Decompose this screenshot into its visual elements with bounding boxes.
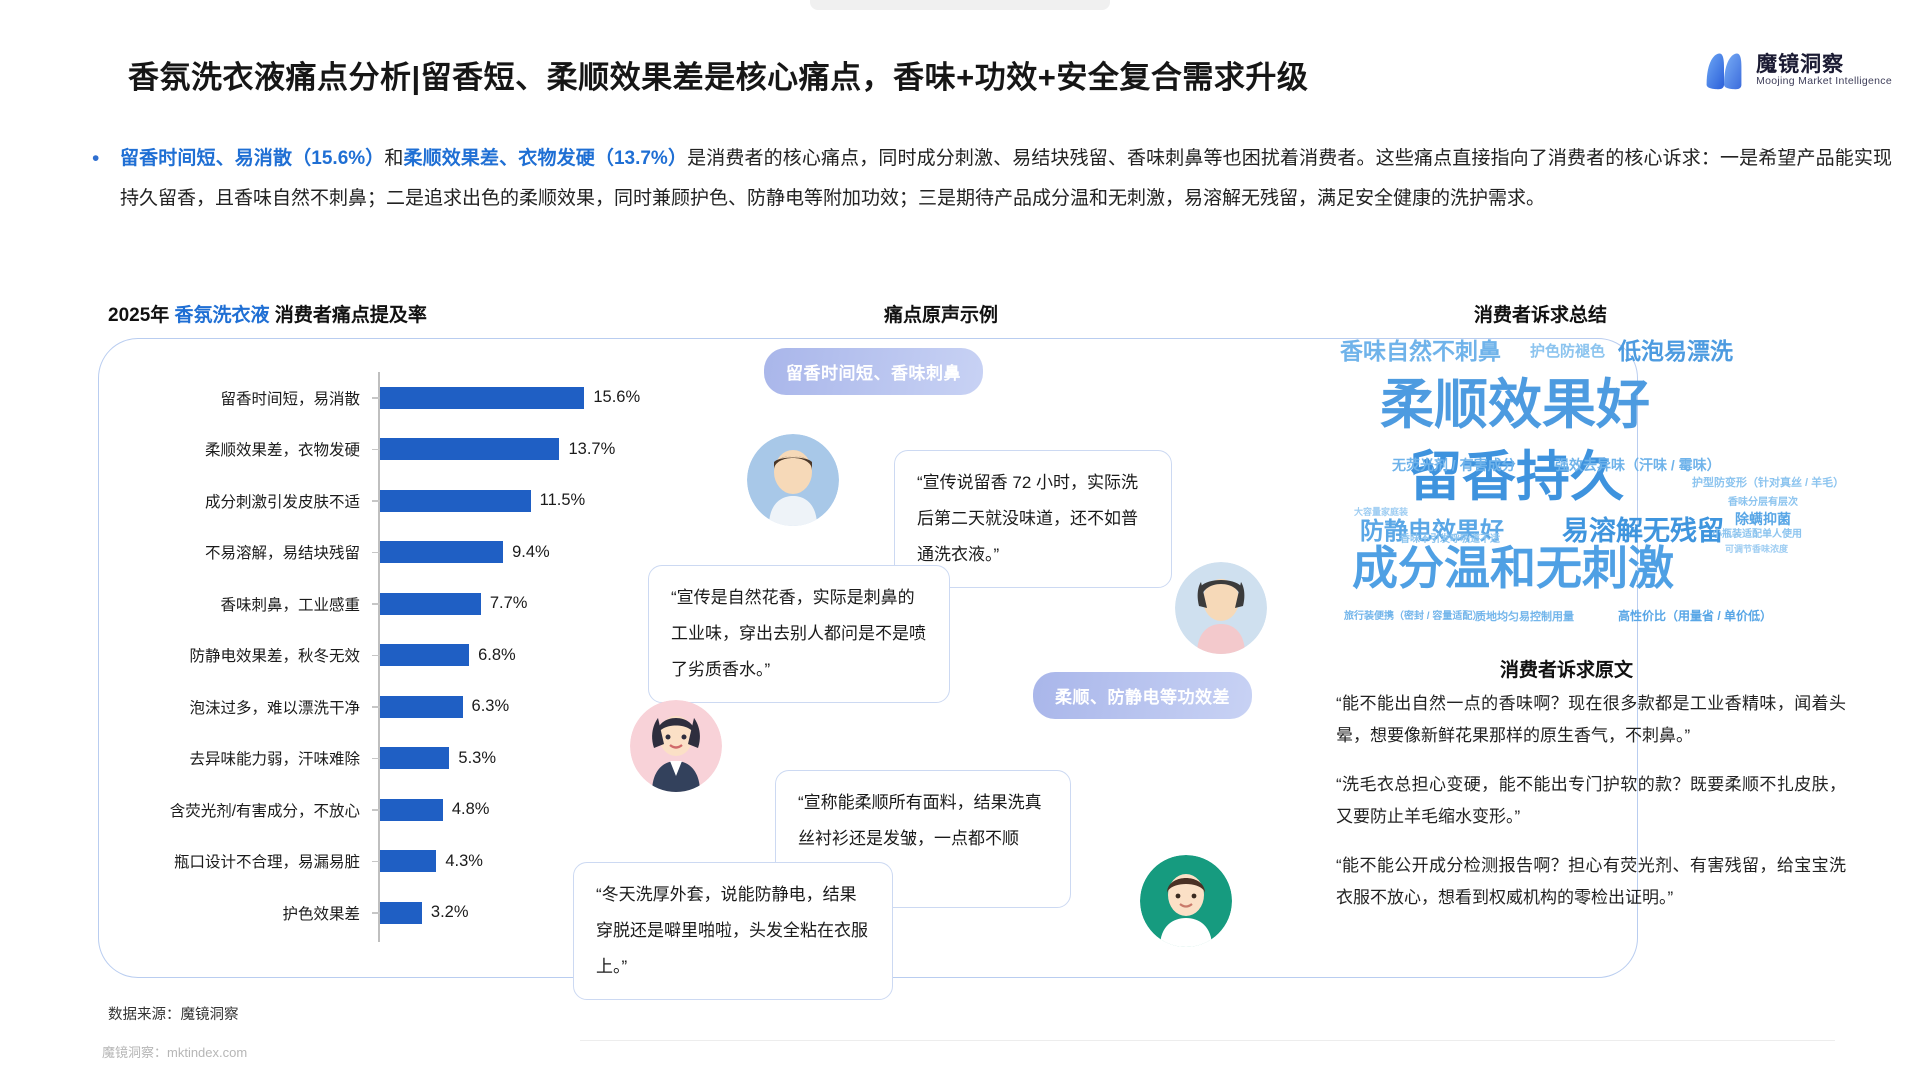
chart-bar xyxy=(380,850,436,872)
word-cloud-term: 旅行装便携（密封 / 容量适配） xyxy=(1344,612,1482,622)
cloud-caption: 消费者诉求总结 xyxy=(1474,300,1607,327)
chart-bar-wrap: 4.8% xyxy=(380,784,720,836)
lead-paragraph: • 留香时间短、易消散（15.6%）和柔顺效果差、衣物发硬（13.7%）是消费者… xyxy=(92,139,1892,219)
chart-tick xyxy=(372,449,380,451)
word-cloud-term: 除螨抑菌 xyxy=(1735,512,1791,526)
consumer-demand-word-cloud: 柔顺效果好留香持久成分温和无刺激易溶解无残留防静电效果好香味自然不刺鼻低泡易漂洗… xyxy=(1340,330,1900,630)
chart-category-label: 香味刺鼻，工业感重 xyxy=(140,593,372,615)
original-quote: “能不能公开成分检测报告啊？担心有荧光剂、有害残留，给宝宝洗衣服不放心，想看到权… xyxy=(1336,850,1846,914)
chart-bar xyxy=(380,799,443,821)
chart-tick xyxy=(372,655,380,657)
chart-bar-wrap: 13.7% xyxy=(380,424,720,476)
logo-name-cn: 魔镜洞察 xyxy=(1756,53,1892,76)
chart-tick xyxy=(372,706,380,708)
chart-bar xyxy=(380,902,422,924)
chart-bar xyxy=(380,696,463,718)
page-title: 香氛洗衣液痛点分析|留香短、柔顺效果差是核心痛点，香味+功效+安全复合需求升级 xyxy=(128,52,1308,97)
chart-category-label: 不易溶解，易结块残留 xyxy=(140,541,372,563)
chart-tick xyxy=(372,500,380,502)
pain-tag-1: 留香时间短、香味刺鼻 xyxy=(764,348,983,395)
quote-bubble-4: “冬天洗厚外套，说能防静电，结果穿脱还是噼里啪啦，头发全粘在衣服上。” xyxy=(573,862,893,1000)
chart-value-label: 4.8% xyxy=(452,800,490,819)
chart-caption-highlight: 香氛洗衣液 xyxy=(175,305,270,326)
moojing-m-icon xyxy=(1702,48,1746,92)
chart-value-label: 15.6% xyxy=(593,388,640,407)
chart-caption: 2025年 香氛洗衣液 消费者痛点提及率 xyxy=(108,300,427,327)
word-cloud-term: 强效去异味（汗味 / 霉味） xyxy=(1555,458,1721,472)
chart-value-label: 9.4% xyxy=(512,543,550,562)
chart-value-label: 4.3% xyxy=(445,852,483,871)
logo-text: 魔镜洞察 Moojing Market Intelligence xyxy=(1756,53,1892,88)
chart-row: 泡沫过多，难以漂洗干净6.3% xyxy=(140,681,720,733)
chart-category-label: 成分刺激引发皮肤不适 xyxy=(140,490,372,512)
avatar-female-1 xyxy=(1175,562,1267,654)
word-cloud-term: 质地均匀易控制用量 xyxy=(1475,612,1574,623)
avatar-male-2 xyxy=(1140,855,1232,947)
chart-row: 香味刺鼻，工业感重7.7% xyxy=(140,578,720,630)
chart-value-label: 7.7% xyxy=(490,594,528,613)
chart-row: 不易溶解，易结块残留9.4% xyxy=(140,527,720,579)
word-cloud-term: 易溶解无残留 xyxy=(1562,518,1724,545)
word-cloud-term: 可调节香味浓度 xyxy=(1725,545,1788,554)
chart-caption-pre: 2025年 xyxy=(108,305,175,326)
voice-caption: 痛点原声示例 xyxy=(884,300,998,327)
chart-tick xyxy=(372,552,380,554)
chart-bar xyxy=(380,541,503,563)
slide-canvas: 香氛洗衣液痛点分析|留香短、柔顺效果差是核心痛点，香味+功效+安全复合需求升级 … xyxy=(0,0,1920,1080)
chart-value-label: 6.8% xyxy=(478,646,516,665)
chart-value-label: 13.7% xyxy=(568,440,615,459)
word-cloud-term: 小瓶装适配单人使用 xyxy=(1712,530,1802,540)
chart-category-label: 护色效果差 xyxy=(140,902,372,924)
bottom-divider xyxy=(580,1040,1835,1041)
quote-bubble-2: “宣传是自然花香，实际是刺鼻的工业味，穿出去别人都问是不是喷了劣质香水。” xyxy=(648,565,950,703)
bullet-dot: • xyxy=(92,139,99,179)
brand-logo: 魔镜洞察 Moojing Market Intelligence xyxy=(1702,48,1892,92)
original-quotes-list: “能不能出自然一点的香味啊？现在很多款都是工业香精味，闻着头晕，想要像新鲜花果那… xyxy=(1336,688,1846,931)
chart-caption-post: 消费者痛点提及率 xyxy=(270,305,427,326)
chart-category-label: 泡沫过多，难以漂洗干净 xyxy=(140,696,372,718)
chart-value-label: 11.5% xyxy=(540,491,586,510)
chart-tick xyxy=(372,809,380,811)
chart-bar xyxy=(380,438,559,460)
word-cloud-term: 香味不引发呼吸道不适 xyxy=(1400,535,1500,545)
chart-row: 留香时间短，易消散15.6% xyxy=(140,372,720,424)
chart-bar xyxy=(380,747,449,769)
lead-highlight-2: 柔顺效果差、衣物发硬（13.7%） xyxy=(404,148,688,169)
watermark: 魔镜洞察：mktindex.com xyxy=(102,1042,247,1061)
chart-bar xyxy=(380,593,481,615)
chart-value-label: 6.3% xyxy=(472,697,510,716)
word-cloud-term: 护色防褪色 xyxy=(1530,344,1605,359)
chart-bar-wrap: 11.5% xyxy=(380,475,720,527)
avatar-female-2 xyxy=(630,700,722,792)
chart-bar-wrap: 15.6% xyxy=(380,372,720,424)
word-cloud-term: 香味自然不刺鼻 xyxy=(1340,340,1501,363)
word-cloud-term: 香味分层有层次 xyxy=(1728,498,1798,508)
word-cloud-term: 护型防变形（针对真丝 / 羊毛） xyxy=(1692,478,1844,489)
chart-bar xyxy=(380,644,469,666)
chart-row: 成分刺激引发皮肤不适11.5% xyxy=(140,475,720,527)
chart-row: 柔顺效果差，衣物发硬13.7% xyxy=(140,424,720,476)
original-quote: “洗毛衣总担心变硬，能不能出专门护软的款？既要柔顺不扎皮肤，又要防止羊毛缩水变形… xyxy=(1336,769,1846,833)
avatar-male-1 xyxy=(747,434,839,526)
word-cloud-term: 大容量家庭装 xyxy=(1354,508,1408,517)
chart-category-label: 瓶口设计不合理，易漏易脏 xyxy=(140,850,372,872)
lead-body: 留香时间短、易消散（15.6%）和柔顺效果差、衣物发硬（13.7%）是消费者的核… xyxy=(92,139,1892,219)
logo-name-en: Moojing Market Intelligence xyxy=(1756,76,1892,88)
source-note: 数据来源：魔镜洞察 xyxy=(108,1003,239,1024)
chart-category-label: 去异味能力弱，汗味难除 xyxy=(140,747,372,769)
word-cloud-term: 低泡易漂洗 xyxy=(1618,340,1733,363)
top-notch xyxy=(810,0,1110,10)
chart-tick xyxy=(372,397,380,399)
chart-category-label: 含荧光剂/有害成分，不放心 xyxy=(140,799,372,821)
chart-value-label: 3.2% xyxy=(431,903,469,922)
chart-tick xyxy=(372,758,380,760)
chart-value-label: 5.3% xyxy=(458,749,496,768)
word-cloud-term: 柔顺效果好 xyxy=(1380,378,1650,432)
chart-bar xyxy=(380,387,584,409)
lead-conj: 和 xyxy=(384,148,403,169)
word-cloud-term: 高性价比（用量省 / 单价低） xyxy=(1618,610,1772,622)
lead-highlight-1: 留香时间短、易消散（15.6%） xyxy=(120,148,384,169)
chart-tick xyxy=(372,912,380,914)
chart-row: 含荧光剂/有害成分，不放心4.8% xyxy=(140,784,720,836)
chart-bar xyxy=(380,490,531,512)
word-cloud-term: 无荧光剂 / 有害成分 xyxy=(1392,458,1516,472)
word-cloud-term: 成分温和无刺激 xyxy=(1352,545,1674,591)
chart-tick xyxy=(372,861,380,863)
pain-tag-2: 柔顺、防静电等功效差 xyxy=(1033,672,1252,719)
original-quote: “能不能出自然一点的香味啊？现在很多款都是工业香精味，闻着头晕，想要像新鲜花果那… xyxy=(1336,688,1846,752)
chart-category-label: 柔顺效果差，衣物发硬 xyxy=(140,438,372,460)
chart-row: 防静电效果差，秋冬无效6.8% xyxy=(140,630,720,682)
chart-category-label: 防静电效果差，秋冬无效 xyxy=(140,644,372,666)
chart-category-label: 留香时间短，易消散 xyxy=(140,387,372,409)
chart-tick xyxy=(372,603,380,605)
